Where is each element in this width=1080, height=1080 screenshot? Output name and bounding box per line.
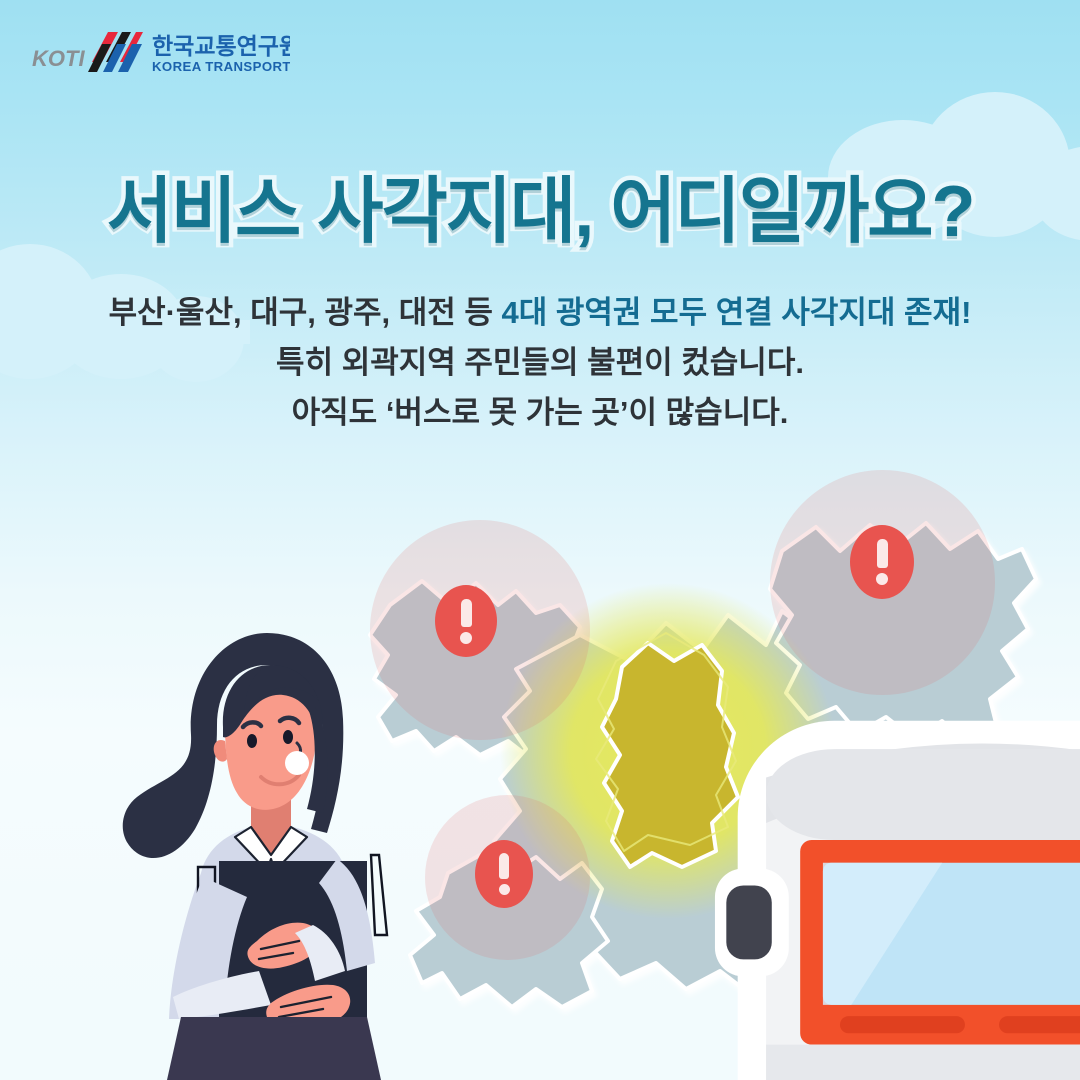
page-title: 서비스 사각지대, 어디일까요? [0, 176, 1080, 248]
speech-bubble-dot [285, 751, 309, 775]
exclamation-icon-northwest [435, 585, 497, 657]
logo-name-ko: 한국교통연구원 [152, 33, 290, 59]
koti-logo: KOTI 한국교통연구원 KOREA TRANSPORT INSTITUTE [30, 24, 290, 76]
infographic-card: KOTI 한국교통연구원 KOREA TRANSPORT INSTITUTE 서… [0, 0, 1080, 1080]
skirt [167, 1017, 381, 1080]
map-illustration [330, 455, 1050, 1080]
subtitle-block: 부산·울산, 대구, 광주, 대전 등 4대 광역권 모두 연결 사각지대 존재… [0, 288, 1080, 439]
koti-stripes [88, 32, 143, 72]
subtitle-line-1-emphasis: 4대 광역권 모두 연결 사각지대 존재! [502, 295, 972, 330]
subtitle-line-2: 특히 외곽지역 주민들의 불편이 컸습니다. [0, 338, 1080, 388]
bus-icon [622, 698, 716, 808]
exclamation-icon-northeast [850, 525, 914, 599]
subtitle-line-3: 아직도 ‘버스로 못 가는 곳’이 많습니다. [0, 388, 1080, 438]
subtitle-line-1-plain: 부산·울산, 대구, 광주, 대전 등 [109, 295, 502, 330]
exclamation-icon-southwest [475, 840, 533, 908]
logo-name-en: KOREA TRANSPORT INSTITUTE [152, 59, 290, 74]
subtitle-line-1: 부산·울산, 대구, 광주, 대전 등 4대 광역권 모두 연결 사각지대 존재… [0, 288, 1080, 338]
presenter-illustration [75, 615, 425, 1080]
koti-wordmark-text: KOTI [32, 46, 85, 71]
